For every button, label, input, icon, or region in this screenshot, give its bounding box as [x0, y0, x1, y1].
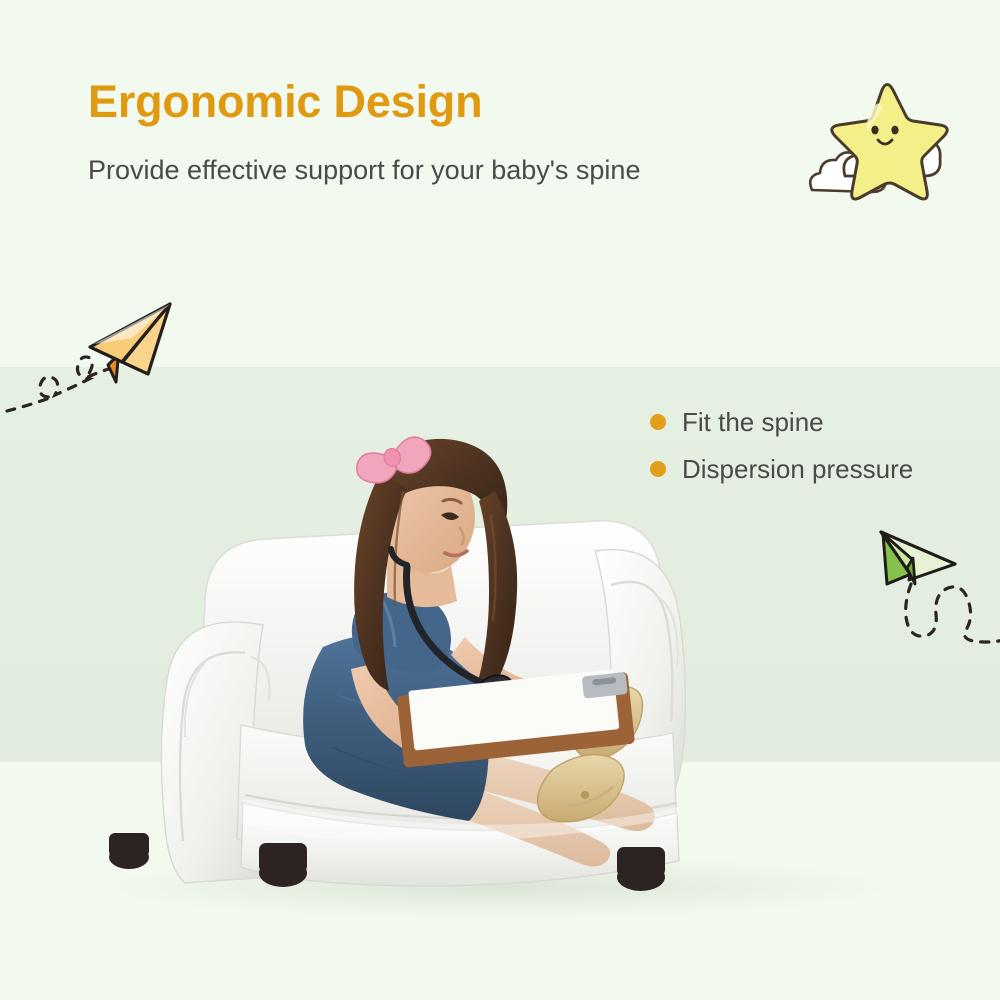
- sofa-foot-right-front-post: [617, 847, 665, 877]
- sofa-foot-left-rear-post: [109, 833, 149, 857]
- clipboard-clip: [582, 672, 628, 698]
- poster-canvas: Ergonomic Design Provide effective suppo…: [0, 0, 1000, 1000]
- page-title: Ergonomic Design: [88, 78, 648, 125]
- sofa-foot-left-front-post: [259, 843, 307, 873]
- headline-block: Ergonomic Design Provide effective suppo…: [88, 78, 648, 190]
- page-subtitle: Provide effective support for your baby'…: [88, 151, 648, 189]
- product-photo-child-on-sofa: [55, 395, 955, 935]
